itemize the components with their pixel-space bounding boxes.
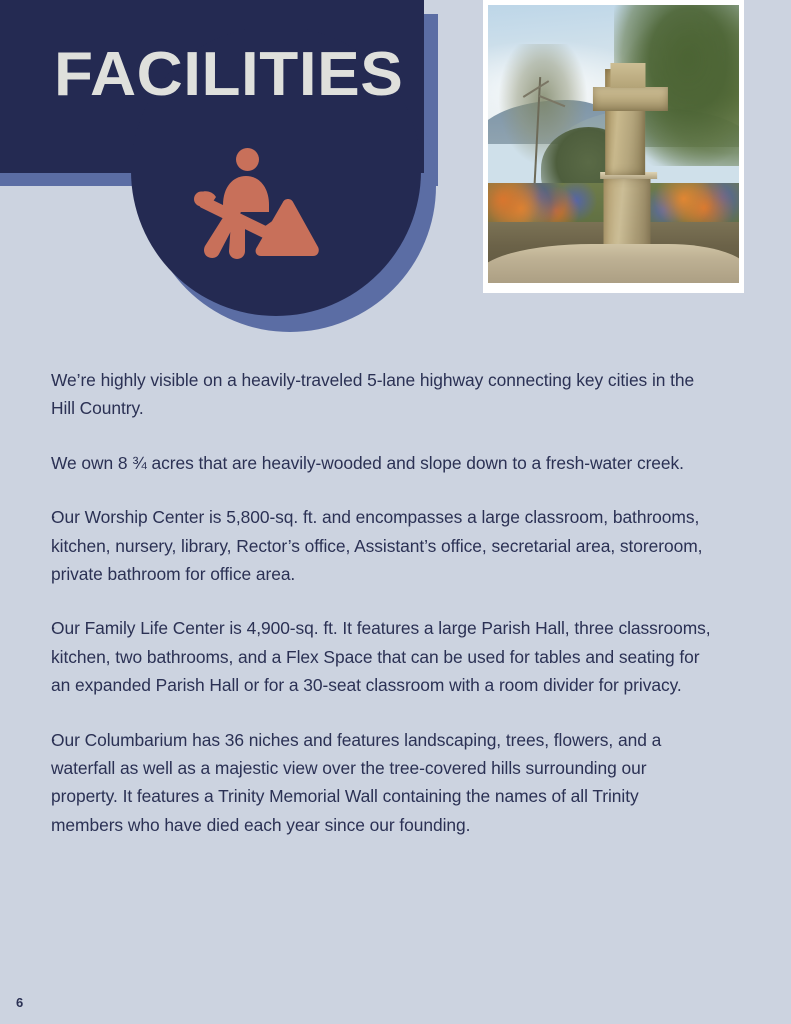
page-title: FACILITIES xyxy=(54,44,403,106)
list-item-text: We own 8 ¾ acres that are heavily-wooded… xyxy=(51,449,712,477)
list-item: · Our Family Life Center is 4,900-sq. ft… xyxy=(0,614,791,699)
bullet-marker-icon: · xyxy=(0,726,51,754)
photo-cross-top xyxy=(610,63,645,88)
list-item: · We own 8 ¾ acres that are heavily-wood… xyxy=(0,449,791,477)
header-banner: FACILITIES xyxy=(0,0,500,300)
list-item: · Our Columbarium has 36 niches and feat… xyxy=(0,726,791,840)
content-area: · We’re highly visible on a heavily-trav… xyxy=(0,366,791,865)
bullet-marker-icon: · xyxy=(0,614,51,642)
stone-cross-monument-photo xyxy=(483,0,744,293)
photo-cross-arm xyxy=(592,87,667,111)
photo-stone-ledge xyxy=(488,244,739,283)
list-item: · Our Worship Center is 5,800-sq. ft. an… xyxy=(0,503,791,588)
slide-page: FACILITIES xyxy=(0,0,791,1024)
list-item-text: Our Family Life Center is 4,900-sq. ft. … xyxy=(51,614,712,699)
construction-worker-icon xyxy=(183,146,323,266)
bullet-marker-icon: · xyxy=(0,449,51,477)
facilities-bullet-list: · We’re highly visible on a heavily-trav… xyxy=(0,366,791,839)
list-item-text: Our Worship Center is 5,800-sq. ft. and … xyxy=(51,503,712,588)
list-item-text: We’re highly visible on a heavily-travel… xyxy=(51,366,712,423)
page-number: 6 xyxy=(16,995,23,1010)
list-item-text: Our Columbarium has 36 niches and featur… xyxy=(51,726,712,840)
photo-image xyxy=(488,5,739,283)
bullet-marker-icon: · xyxy=(0,366,51,394)
list-item: · We’re highly visible on a heavily-trav… xyxy=(0,366,791,423)
bullet-marker-icon: · xyxy=(0,503,51,531)
